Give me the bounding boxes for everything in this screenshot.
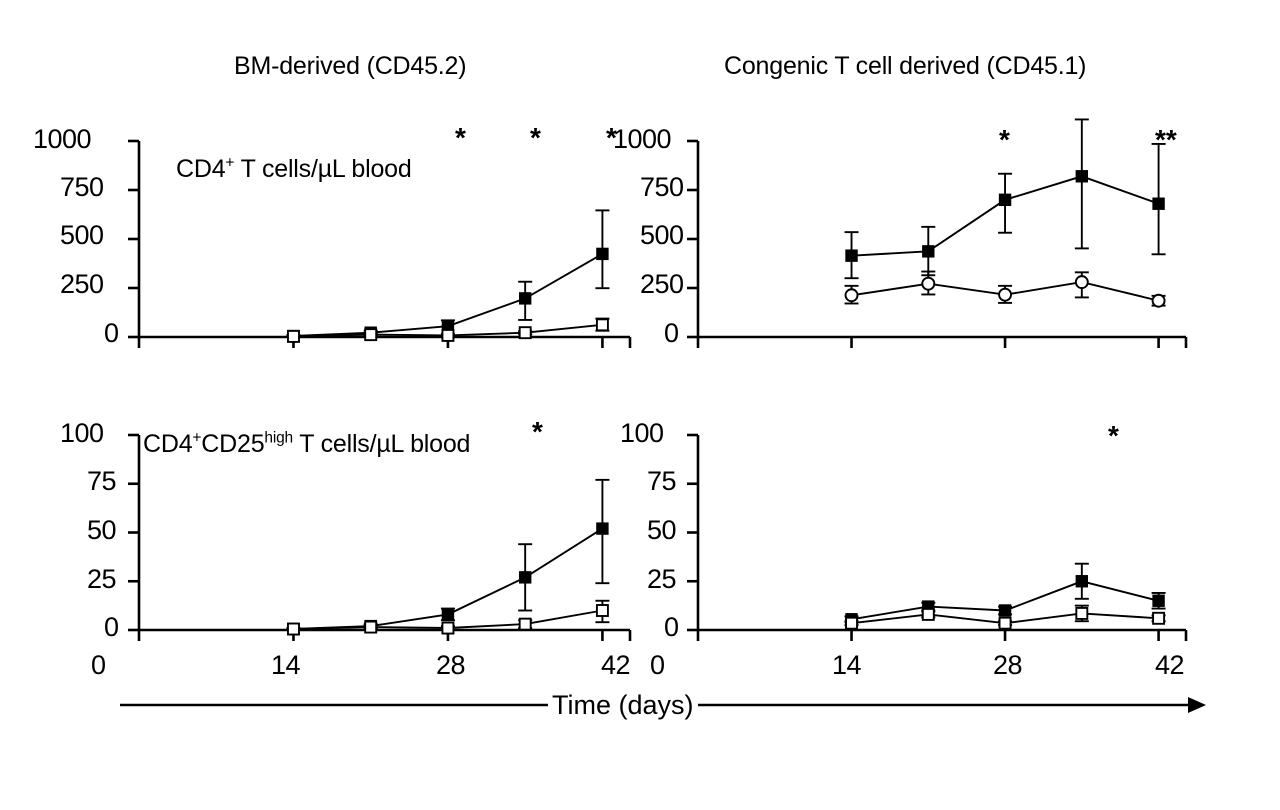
series-group — [286, 119, 1165, 634]
plot-canvas — [0, 0, 1280, 810]
figure-root: BM-derived (CD45.2) Congenic T cell deri… — [0, 0, 1280, 810]
axes-group — [128, 141, 1186, 641]
x-axis-caption: Time (days) — [548, 690, 698, 721]
